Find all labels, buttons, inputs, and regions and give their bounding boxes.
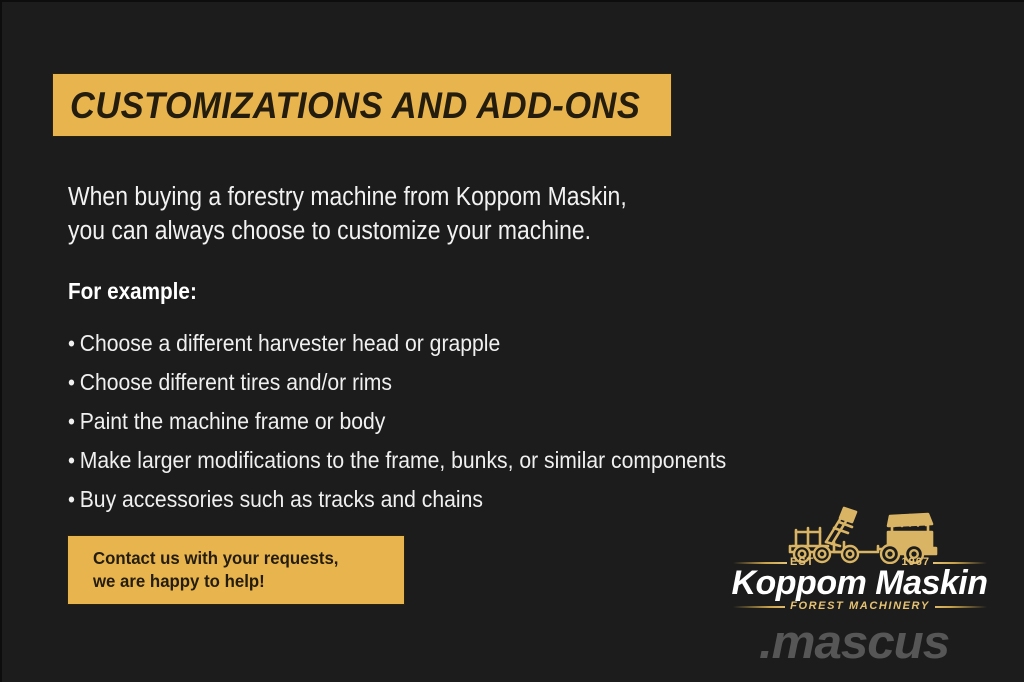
list-item: • Make larger modifications to the frame… <box>68 441 726 480</box>
bullet-icon: • <box>68 481 80 519</box>
contact-cta-text: Contact us with your requests, we are ha… <box>68 536 391 593</box>
list-item-label: Choose different tires and/or rims <box>80 363 392 401</box>
contact-line-1: Contact us with your requests, <box>93 547 391 570</box>
logo-tagline-row: FOREST MACHINERY <box>733 599 987 613</box>
list-item-label: Buy accessories such as tracks and chain… <box>80 480 483 518</box>
intro-line-1: When buying a forestry machine from Kopp… <box>68 180 716 214</box>
logo-brand-name: Koppom Maskin <box>727 564 992 602</box>
page-title: CUSTOMIZATIONS AND ADD-ONS <box>70 87 640 124</box>
title-banner: CUSTOMIZATIONS AND ADD-ONS <box>53 74 671 136</box>
for-example-heading: For example: <box>68 278 197 305</box>
customization-options-list: • Choose a different harvester head or g… <box>68 324 726 519</box>
list-item-label: Paint the machine frame or body <box>80 402 386 440</box>
list-item: • Choose a different harvester head or g… <box>68 324 726 363</box>
list-item: • Paint the machine frame or body <box>68 402 726 441</box>
list-item-label: Choose a different harvester head or gra… <box>80 324 501 362</box>
list-item: • Choose different tires and/or rims <box>68 363 726 402</box>
list-item: • Buy accessories such as tracks and cha… <box>68 480 726 519</box>
mascus-watermark: .mascus <box>759 616 949 668</box>
contact-cta-box[interactable]: Contact us with your requests, we are ha… <box>68 536 404 604</box>
list-item-label: Make larger modifications to the frame, … <box>80 441 727 479</box>
koppom-maskin-logo: EST 1967 Koppom Maskin FOREST MACHINERY <box>727 502 992 612</box>
intro-paragraph: When buying a forestry machine from Kopp… <box>68 180 716 248</box>
bullet-icon: • <box>68 403 80 441</box>
intro-line-2: you can always choose to customize your … <box>68 214 716 248</box>
bullet-icon: • <box>68 364 80 402</box>
contact-line-2: we are happy to help! <box>93 570 391 593</box>
logo-tagline-rule-right <box>935 606 987 608</box>
slide-canvas: CUSTOMIZATIONS AND ADD-ONS When buying a… <box>0 0 1024 682</box>
bullet-icon: • <box>68 325 80 363</box>
bullet-icon: • <box>68 442 80 480</box>
